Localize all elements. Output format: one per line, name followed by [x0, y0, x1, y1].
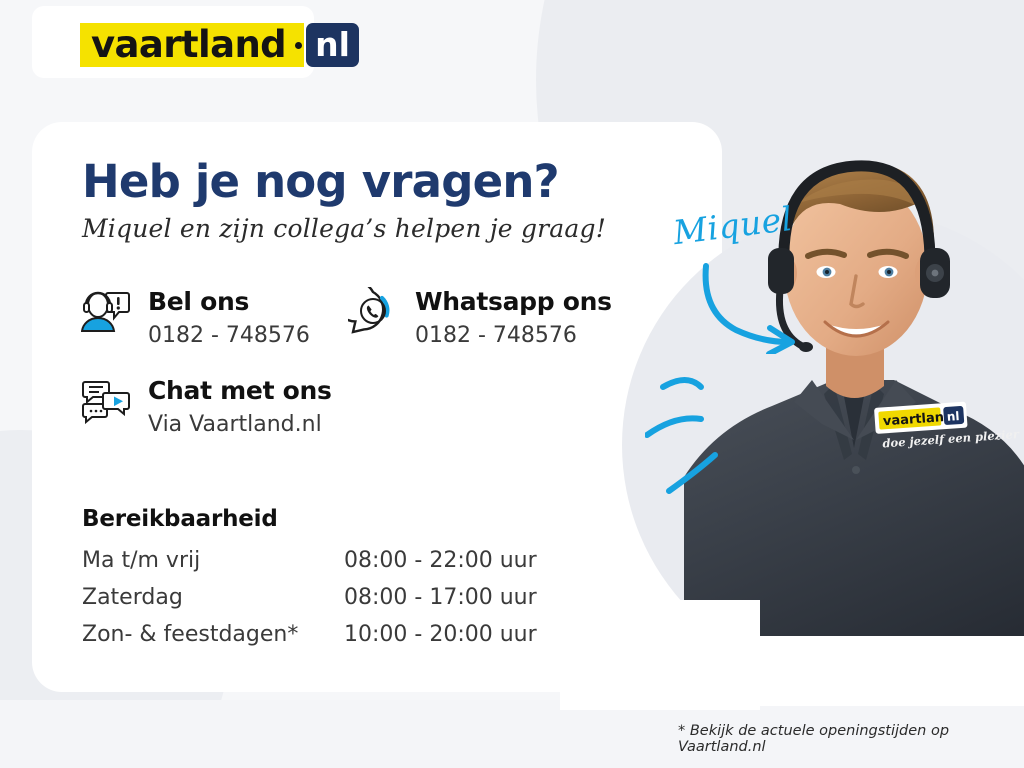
- contact-value: Via Vaartland.nl: [148, 410, 332, 440]
- whatsapp-icon: [347, 286, 399, 338]
- table-row: Ma t/m vrij 08:00 - 22:00 uur: [82, 548, 537, 585]
- table-row: Zon- & feestdagen* 10:00 - 20:00 uur: [82, 622, 537, 659]
- contact-item-chat-met-ons[interactable]: Chat met ons Via Vaartland.nl: [80, 375, 332, 440]
- contact-item-whatsapp-ons[interactable]: Whatsapp ons 0182 - 748576: [347, 286, 612, 351]
- availability-day: Ma t/m vrij: [82, 548, 344, 585]
- contact-banner: vaartland nl doe jezelf een plezier vaar…: [0, 0, 1024, 768]
- logo-wordmark: vaartland: [80, 23, 295, 67]
- contact-value: 0182 - 748576: [148, 321, 310, 351]
- vaartland-logo[interactable]: vaartland nl: [32, 6, 314, 78]
- curved-arrow-icon: [700, 262, 810, 354]
- svg-text:nl: nl: [946, 409, 960, 424]
- availability-hours: 08:00 - 22:00 uur: [344, 548, 537, 585]
- logo-tld-badge: nl: [306, 23, 359, 67]
- headset-person-icon: [80, 286, 132, 338]
- contact-title: Chat met ons: [148, 376, 332, 406]
- availability-day: Zon- & feestdagen*: [82, 622, 344, 659]
- chat-bubbles-icon: [80, 375, 132, 427]
- footer-note: * Bekijk de actuele openingstijden op Va…: [678, 723, 1024, 755]
- card-right-filler: [560, 600, 760, 710]
- availability-title: Bereikbaarheid: [82, 506, 278, 532]
- table-row: Zaterdag 08:00 - 17:00 uur: [82, 585, 537, 622]
- page-subtitle: Miquel en zijn collega’s helpen je graag…: [82, 214, 606, 243]
- availability-hours: 10:00 - 20:00 uur: [344, 622, 537, 659]
- contact-item-bel-ons[interactable]: Bel ons 0182 - 748576: [80, 286, 310, 351]
- contact-value: 0182 - 748576: [415, 321, 612, 351]
- page-title: Heb je nog vragen?: [82, 155, 559, 208]
- availability-day: Zaterdag: [82, 585, 344, 622]
- availability-table: Ma t/m vrij 08:00 - 22:00 uur Zaterdag 0…: [82, 548, 537, 659]
- dot-separator-icon: [295, 23, 304, 67]
- motion-dashes-icon: [645, 365, 755, 495]
- contact-title: Whatsapp ons: [415, 287, 612, 317]
- contact-title: Bel ons: [148, 287, 310, 317]
- availability-hours: 08:00 - 17:00 uur: [344, 585, 537, 622]
